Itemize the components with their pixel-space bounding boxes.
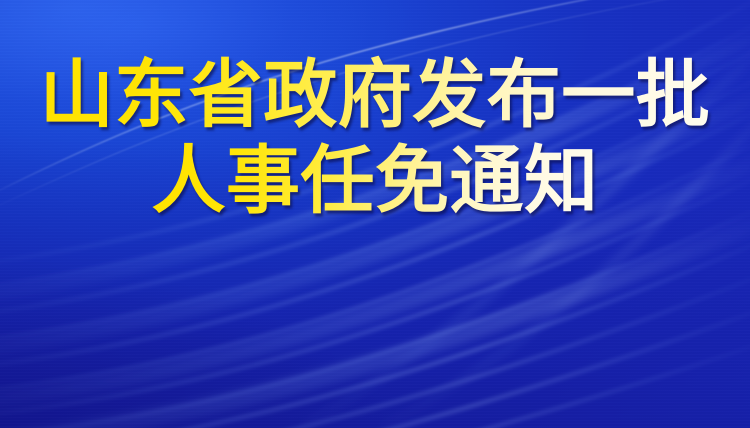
scanline-texture (0, 0, 750, 428)
news-banner-image: 山东省政府发布一批 山东省政府发布一批 人事任免通知 人事任免通知 (0, 0, 750, 428)
